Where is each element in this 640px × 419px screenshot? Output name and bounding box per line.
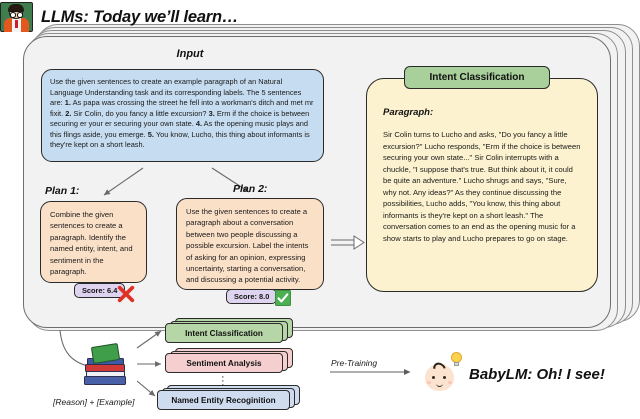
figure-root: LLMs: Today we’ll learn… Input Use the g… bbox=[0, 0, 640, 419]
teacher-tie-shape bbox=[15, 20, 18, 28]
output-paragraph-text: Sir Colin turns to Lucho and asks, "Do y… bbox=[383, 129, 581, 244]
plan-2-score-badge: Score: 8.0 bbox=[226, 289, 277, 304]
teacher-glasses-shape bbox=[10, 11, 22, 16]
plan-2-label: Plan 2: bbox=[233, 183, 267, 195]
lightbulb-base-shape bbox=[454, 362, 459, 366]
input-text-box: Use the given sentences to create an exa… bbox=[41, 69, 324, 162]
baby-cheek-right-shape bbox=[448, 381, 452, 384]
intent-classification-tag: Intent Classification bbox=[404, 66, 550, 89]
book-shape-red bbox=[85, 364, 125, 372]
baby-lm-caption: BabyLM: Oh! I see! bbox=[469, 366, 605, 383]
plan-2-box: Use the given sentences to create a para… bbox=[176, 198, 324, 290]
books-stack-icon bbox=[82, 345, 130, 390]
task-stack-named-entity-recognition[interactable]: Named Entity Recoginition bbox=[157, 390, 290, 410]
lightbulb-icon bbox=[451, 352, 462, 367]
output-paragraph-box: Paragraph: Sir Colin turns to Lucho and … bbox=[366, 78, 598, 292]
plan-1-label: Plan 1: bbox=[45, 185, 79, 197]
task-stack-sentiment-analysis[interactable]: Sentiment Analysis bbox=[165, 353, 283, 373]
output-heading: Paragraph: bbox=[383, 107, 581, 118]
page-title: LLMs: Today we’ll learn… bbox=[41, 8, 238, 27]
reason-example-label: [Reason] + [Example] bbox=[53, 397, 135, 407]
task-stack-intent-classification[interactable]: Intent Classification bbox=[165, 323, 283, 343]
plan-1-box: Combine the given sentences to create a … bbox=[40, 201, 147, 283]
teacher-icon bbox=[0, 2, 33, 32]
task-card-label-named-entity-recognition: Named Entity Recoginition bbox=[157, 390, 290, 410]
input-section-label: Input bbox=[40, 48, 340, 60]
task-card-label-intent-classification: Intent Classification bbox=[165, 323, 283, 343]
header: LLMs: Today we’ll learn… bbox=[0, 2, 238, 32]
task-card-label-sentiment-analysis: Sentiment Analysis bbox=[165, 353, 283, 373]
cross-icon bbox=[117, 285, 135, 303]
baby-with-lightbulb-icon bbox=[423, 352, 463, 394]
baby-cheek-left-shape bbox=[427, 381, 431, 384]
pretraining-label: Pre-Training bbox=[331, 358, 377, 368]
book-shape-bottom bbox=[84, 376, 126, 385]
check-icon bbox=[275, 290, 291, 306]
